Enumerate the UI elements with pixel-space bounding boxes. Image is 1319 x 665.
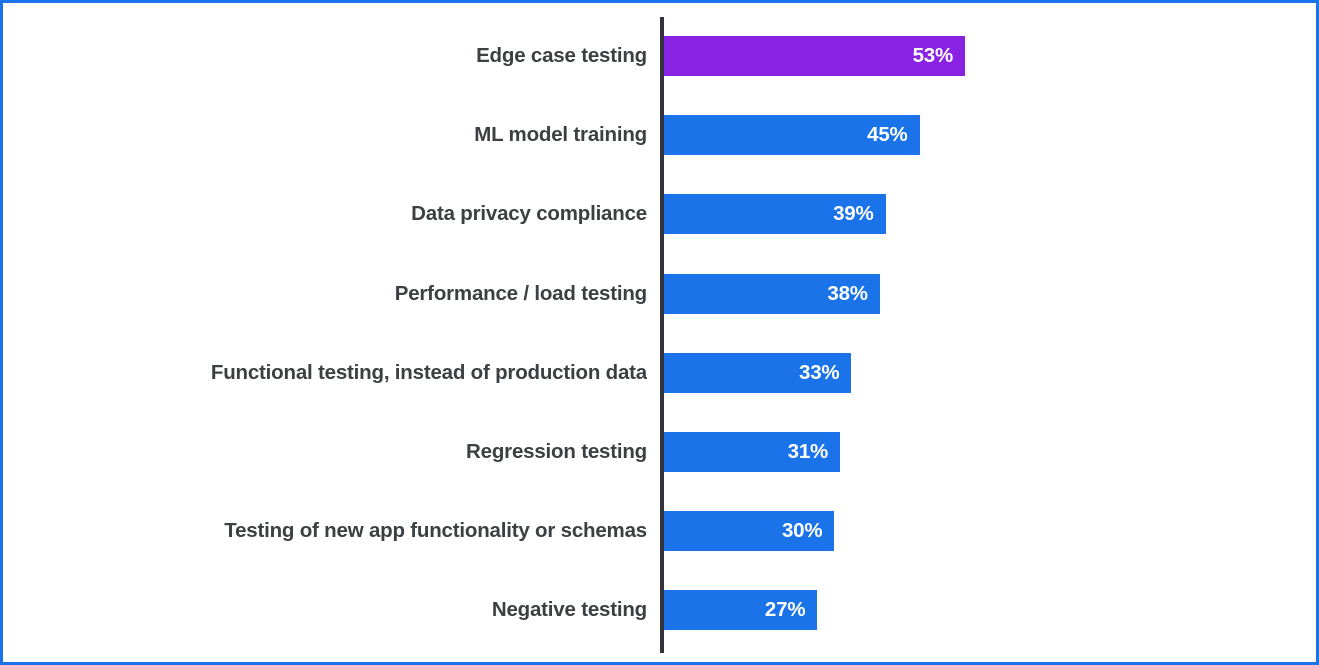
- bar-value-label: 33%: [799, 361, 839, 385]
- bar-value-label: 27%: [765, 598, 805, 622]
- bar-track: 31%: [664, 432, 840, 472]
- category-label: Functional testing, instead of productio…: [23, 353, 647, 393]
- bar-row: Data privacy compliance39%: [3, 194, 1319, 234]
- bar[interactable]: 33%: [664, 353, 851, 393]
- bar-track: 53%: [664, 36, 965, 76]
- bar-track: 45%: [664, 115, 920, 155]
- bar[interactable]: 30%: [664, 511, 834, 551]
- category-axis-line: [660, 17, 664, 653]
- bar-track: 33%: [664, 353, 851, 393]
- bar-row: ML model training45%: [3, 115, 1319, 155]
- bar-track: 38%: [664, 274, 880, 314]
- bar-value-label: 45%: [867, 123, 907, 147]
- category-label: Negative testing: [23, 590, 647, 630]
- bar-value-label: 38%: [827, 282, 867, 306]
- bar-row: Testing of new app functionality or sche…: [3, 511, 1319, 551]
- category-label: Testing of new app functionality or sche…: [23, 511, 647, 551]
- bar-value-label: 53%: [913, 44, 953, 68]
- bar-row: Regression testing31%: [3, 432, 1319, 472]
- bar-track: 39%: [664, 194, 886, 234]
- bar[interactable]: 45%: [664, 115, 920, 155]
- bar[interactable]: 31%: [664, 432, 840, 472]
- bar-row: Edge case testing53%: [3, 36, 1319, 76]
- bar-track: 27%: [664, 590, 817, 630]
- chart-plot-area: Edge case testing53%ML model training45%…: [3, 3, 1319, 665]
- bar[interactable]: 53%: [664, 36, 965, 76]
- category-label: Regression testing: [23, 432, 647, 472]
- bar-row: Functional testing, instead of productio…: [3, 353, 1319, 393]
- category-label: Data privacy compliance: [23, 194, 647, 234]
- bar-value-label: 30%: [782, 519, 822, 543]
- bar[interactable]: 27%: [664, 590, 817, 630]
- bar-track: 30%: [664, 511, 834, 551]
- bar-value-label: 31%: [788, 440, 828, 464]
- chart-frame: Edge case testing53%ML model training45%…: [0, 0, 1319, 665]
- bar[interactable]: 39%: [664, 194, 886, 234]
- bar-row: Performance / load testing38%: [3, 274, 1319, 314]
- bar[interactable]: 38%: [664, 274, 880, 314]
- category-label: Edge case testing: [23, 36, 647, 76]
- bar-row: Negative testing27%: [3, 590, 1319, 630]
- category-label: ML model training: [23, 115, 647, 155]
- category-label: Performance / load testing: [23, 274, 647, 314]
- bar-value-label: 39%: [833, 202, 873, 226]
